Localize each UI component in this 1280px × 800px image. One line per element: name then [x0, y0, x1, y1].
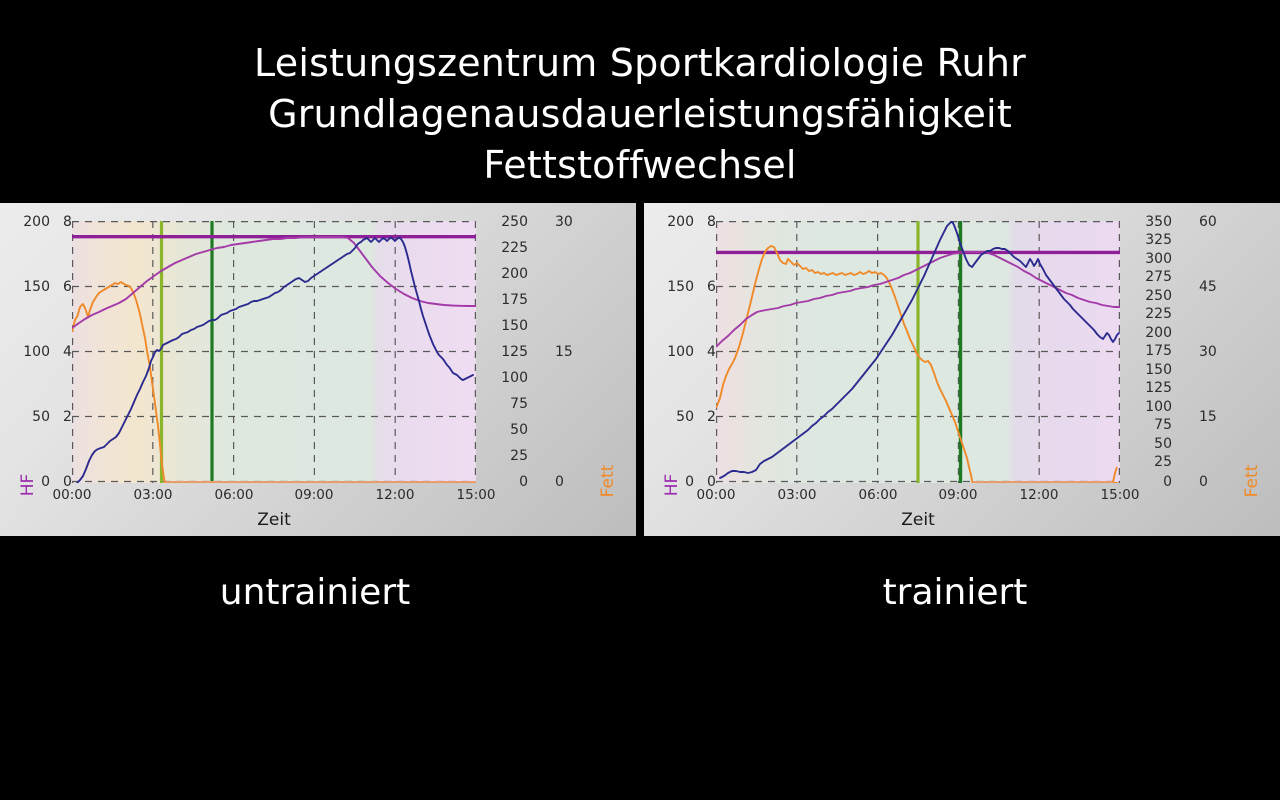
tick-fett-15: 15 — [555, 344, 573, 360]
tick-cho-150-r: 150 — [1122, 362, 1172, 378]
plot-svg-left — [72, 221, 476, 483]
chart-panel-untrainiert: HF La Fett CHO 200 150 100 50 0 8 6 4 2 … — [0, 203, 636, 536]
tick-la-4-r: 4 — [707, 344, 716, 360]
charts-container: HF La Fett CHO 200 150 100 50 0 8 6 4 2 … — [0, 203, 1280, 536]
tick-hf-100: 100 — [0, 344, 50, 360]
page-title: Leistungszentrum Sportkardiologie Ruhr G… — [0, 38, 1280, 191]
xtick-right-5: 15:00 — [1080, 487, 1160, 503]
xtick-right-2: 06:00 — [838, 487, 918, 503]
tick-cho-50-r: 50 — [1122, 436, 1172, 452]
tick-cho-200-r: 200 — [1122, 325, 1172, 341]
tick-cho-175-r: 175 — [1122, 343, 1172, 359]
axis-title-fett-left: Fett — [598, 451, 618, 511]
xtick-left-0: 00:00 — [32, 487, 112, 503]
captions-row: untrainiert trainiert — [0, 565, 1280, 621]
xtick-left-3: 09:00 — [274, 487, 354, 503]
tick-cho-150: 150 — [478, 318, 528, 334]
title-line-1: Leistungszentrum Sportkardiologie Ruhr — [0, 38, 1280, 89]
xtick-right-4: 12:00 — [999, 487, 1079, 503]
tick-hf-50: 50 — [0, 409, 50, 425]
tick-cho-50: 50 — [478, 422, 528, 438]
tick-cho-250: 250 — [478, 214, 528, 230]
plot-area-untrainiert — [72, 221, 476, 483]
tick-fett-60: 60 — [1199, 214, 1217, 230]
tick-cho-75-r: 75 — [1122, 417, 1172, 433]
slide-root: Leistungszentrum Sportkardiologie Ruhr G… — [0, 0, 1280, 800]
tick-cho-325: 325 — [1122, 232, 1172, 248]
tick-cho-100: 100 — [478, 370, 528, 386]
xtick-left-1: 03:00 — [113, 487, 193, 503]
xtick-right-3: 09:00 — [918, 487, 998, 503]
tick-cho-75: 75 — [478, 396, 528, 412]
tick-cho-300: 300 — [1122, 251, 1172, 267]
tick-cho-175: 175 — [478, 292, 528, 308]
tick-hf-100-r: 100 — [644, 344, 694, 360]
title-line-3: Fettstoffwechsel — [0, 140, 1280, 191]
xtick-right-1: 03:00 — [757, 487, 837, 503]
tick-cho-100-r: 100 — [1122, 399, 1172, 415]
tick-hf-150-r: 150 — [644, 279, 694, 295]
tick-la-2-r: 2 — [707, 409, 716, 425]
xtick-left-5: 15:00 — [436, 487, 516, 503]
tick-fett-45: 45 — [1199, 279, 1217, 295]
axis-title-fett-right: Fett — [1242, 451, 1262, 511]
tick-la-8: 8 — [63, 214, 72, 230]
tick-cho-350: 350 — [1122, 214, 1172, 230]
tick-hf-200-r: 200 — [644, 214, 694, 230]
tick-cho-250-r: 250 — [1122, 288, 1172, 304]
tick-cho-25: 25 — [478, 448, 528, 464]
tick-hf-50-r: 50 — [644, 409, 694, 425]
tick-cho-225-r: 225 — [1122, 306, 1172, 322]
tick-la-4: 4 — [63, 344, 72, 360]
tick-fett-30: 30 — [555, 214, 573, 230]
tick-fett-15-r: 15 — [1199, 409, 1217, 425]
tick-cho-275: 275 — [1122, 269, 1172, 285]
caption-untrainiert: untrainiert — [130, 565, 500, 621]
panel-divider — [636, 203, 644, 536]
tick-cho-225: 225 — [478, 240, 528, 256]
tick-cho-25-r: 25 — [1122, 454, 1172, 470]
caption-trainiert: trainiert — [770, 565, 1140, 621]
tick-la-6: 6 — [63, 279, 72, 295]
tick-cho-125-r: 125 — [1122, 380, 1172, 396]
chart-panel-trainiert: HF La Fett CHO 200 150 100 50 0 8 6 4 2 … — [644, 203, 1280, 536]
tick-cho-200: 200 — [478, 266, 528, 282]
tick-hf-200: 200 — [0, 214, 50, 230]
tick-la-6-r: 6 — [707, 279, 716, 295]
xtick-left-4: 12:00 — [355, 487, 435, 503]
xtick-left-2: 06:00 — [194, 487, 274, 503]
tick-fett-30-r: 30 — [1199, 344, 1217, 360]
plot-svg-right — [716, 221, 1120, 483]
tick-hf-150: 150 — [0, 279, 50, 295]
axis-title-zeit-right: Zeit — [818, 510, 1018, 530]
title-line-2: Grundlagenausdauerleistungsfähigkeit — [0, 89, 1280, 140]
tick-la-2: 2 — [63, 409, 72, 425]
axis-title-zeit-left: Zeit — [174, 510, 374, 530]
plot-area-trainiert — [716, 221, 1120, 483]
tick-cho-125: 125 — [478, 344, 528, 360]
tick-la-8-r: 8 — [707, 214, 716, 230]
tick-fett-0: 0 — [555, 474, 564, 490]
tick-fett-0-r: 0 — [1199, 474, 1208, 490]
xtick-right-0: 00:00 — [676, 487, 756, 503]
